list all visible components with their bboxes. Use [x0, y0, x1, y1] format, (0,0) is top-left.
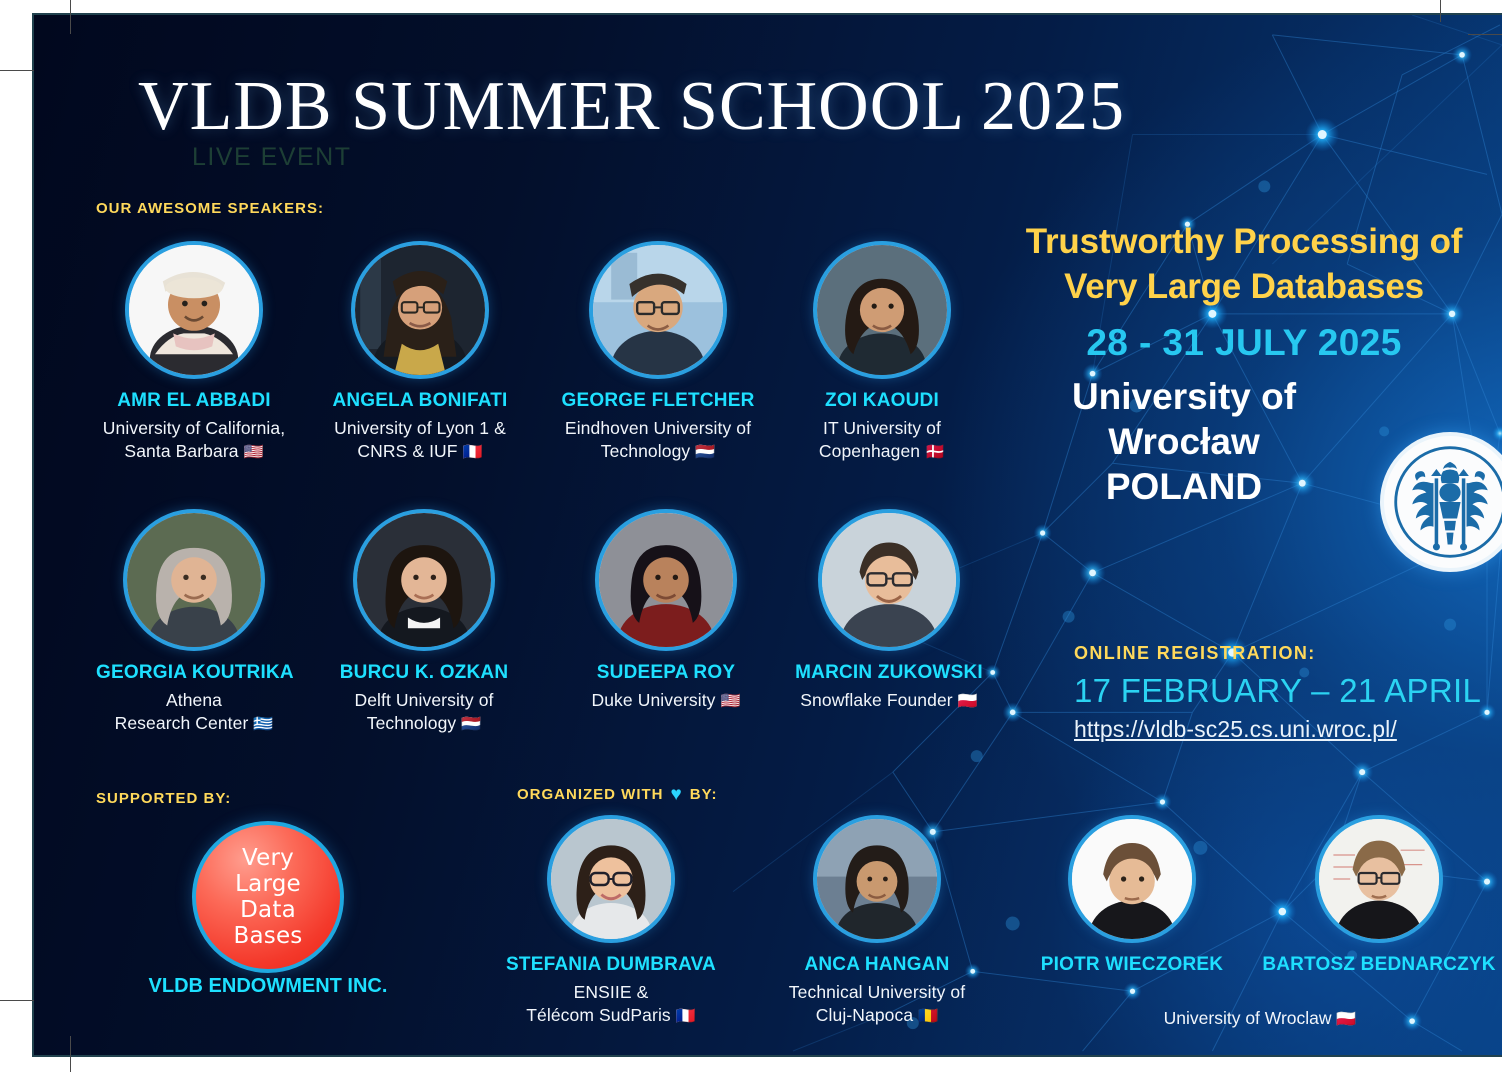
speaker-card: ZOI KAOUDI IT University ofCopenhagen 🇩🇰 [796, 241, 968, 464]
poster-canvas: VLDB SUMMER SCHOOL 2025 LIVE EVENT OUR A… [32, 13, 1502, 1057]
headline-line-2: Very Large Databases [986, 265, 1502, 310]
crop-mark-bottom-left-vertical [70, 1036, 71, 1072]
registration-label: ONLINE REGISTRATION: [1074, 643, 1481, 664]
vldb-logo-line-1: Very [242, 845, 294, 871]
registration-block: ONLINE REGISTRATION: 17 FEBRUARY – 21 AP… [1074, 643, 1481, 743]
speaker-name: GEORGE FLETCHER [552, 390, 764, 413]
crop-mark-top-right-vertical [1440, 0, 1441, 22]
flag-icon: 🇫🇷 [676, 1008, 696, 1025]
avatar [351, 241, 489, 379]
organizer-card: PIOTR WIECZOREK [1014, 815, 1250, 977]
headline-line-1: Trustworthy Processing of [986, 220, 1502, 265]
speaker-affiliation: Delft University ofTechnology 🇳🇱 [326, 689, 522, 736]
flag-icon: 🇺🇸 [244, 444, 264, 461]
organizer-card: STEFANIA DUMBRAVA ENSIIE &Télécom SudPar… [486, 815, 736, 1028]
location-line-1: University of [986, 374, 1382, 419]
supported-by-label: SUPPORTED BY: [96, 790, 231, 807]
vldb-endowment-logo: Very Large Data Bases [192, 821, 344, 973]
affiliation-text: Technical University ofCluj-Napoca [789, 982, 965, 1026]
speaker-affiliation: Snowflake Founder 🇵🇱 [778, 689, 1000, 713]
vldb-logo-line-2: Large [235, 871, 301, 897]
speaker-affiliation: AthenaResearch Center 🇬🇷 [96, 689, 292, 736]
organizer-card: ANCA HANGAN Technical University ofCluj-… [752, 815, 1002, 1028]
avatar [353, 509, 495, 651]
speaker-name: ANGELA BONIFATI [322, 390, 518, 413]
organized-label-after: BY: [690, 786, 718, 803]
affiliation-text: Eindhoven University ofTechnology [565, 418, 751, 462]
flag-icon: 🇳🇱 [695, 444, 715, 461]
avatar [1315, 815, 1443, 943]
vldb-logo-line-4: Bases [234, 923, 303, 949]
flag-icon: 🇵🇱 [1336, 1011, 1356, 1028]
registration-url-link[interactable]: https://vldb-sc25.cs.uni.wroc.pl/ [1074, 716, 1397, 743]
speaker-card: ANGELA BONIFATI University of Lyon 1 &CN… [322, 241, 518, 464]
speaker-card: GEORGE FLETCHER Eindhoven University ofT… [552, 241, 764, 464]
avatar [123, 509, 265, 651]
organized-by-label: ORGANIZED WITH ♥ BY: [517, 785, 718, 804]
vldb-endowment-caption: VLDB ENDOWMENT INC. [34, 975, 502, 998]
flag-icon: 🇳🇱 [461, 716, 481, 733]
organizer-name: ANCA HANGAN [752, 954, 1002, 977]
flag-icon: 🇩🇰 [925, 444, 945, 461]
flag-icon: 🇵🇱 [958, 693, 978, 710]
speaker-name: ZOI KAOUDI [796, 390, 968, 413]
speaker-name: MARCIN ZUKOWSKI [778, 662, 1000, 685]
vldb-logo-line-3: Data [240, 897, 296, 923]
speaker-card: BURCU K. OZKAN Delft University ofTechno… [326, 509, 522, 736]
event-headline: Trustworthy Processing of Very Large Dat… [986, 220, 1502, 310]
avatar [589, 241, 727, 379]
location-line-3: POLAND [986, 464, 1382, 509]
avatar [813, 815, 941, 943]
flag-icon: 🇺🇸 [720, 693, 740, 710]
crop-mark-top-left-vertical [70, 0, 71, 34]
crop-mark-top-right-horizontal [1468, 34, 1502, 35]
avatar [818, 509, 960, 651]
affiliation-text: IT University ofCopenhagen [819, 418, 941, 462]
flag-icon: 🇬🇷 [253, 716, 273, 733]
flag-icon: 🇫🇷 [463, 444, 483, 461]
avatar [1068, 815, 1196, 943]
affiliation-text: AthenaResearch Center [115, 690, 254, 734]
flag-icon: 🇷🇴 [918, 1008, 938, 1025]
live-event-badge: LIVE EVENT [192, 143, 352, 172]
event-dates: 28 - 31 JULY 2025 [986, 322, 1502, 364]
speakers-section-label: OUR AWESOME SPEAKERS: [96, 200, 324, 217]
speaker-card: GEORGIA KOUTRIKA AthenaResearch Center 🇬… [96, 509, 292, 736]
avatar [813, 241, 951, 379]
speaker-affiliation: Duke University 🇺🇸 [562, 689, 770, 713]
event-info-panel: Trustworthy Processing of Very Large Dat… [986, 220, 1502, 509]
organizers-shared-affiliation: University of Wroclaw 🇵🇱 [1074, 1008, 1446, 1029]
organizer-name: PIOTR WIECZOREK [1014, 954, 1250, 977]
speaker-name: GEORGIA KOUTRIKA [96, 662, 292, 685]
organizer-name: STEFANIA DUMBRAVA [486, 954, 736, 977]
university-of-wroclaw-crest-icon [1380, 432, 1502, 572]
crop-mark-bottom-left-horizontal [0, 1000, 34, 1001]
speaker-affiliation: Eindhoven University ofTechnology 🇳🇱 [552, 417, 764, 464]
organized-label-before: ORGANIZED WITH [517, 786, 664, 803]
speaker-name: AMR EL ABBADI [96, 390, 292, 413]
speaker-card: SUDEEPA ROY Duke University 🇺🇸 [562, 509, 770, 712]
speaker-card: AMR EL ABBADI University of California,S… [96, 241, 292, 464]
speaker-name: BURCU K. OZKAN [326, 662, 522, 685]
affiliation-text: ENSIIE &Télécom SudParis [526, 982, 676, 1026]
location-line-2: Wrocław [986, 419, 1382, 464]
avatar [125, 241, 263, 379]
organizer-name: BARTOSZ BEDNARCZYK [1256, 954, 1502, 977]
speaker-affiliation: IT University ofCopenhagen 🇩🇰 [796, 417, 968, 464]
avatar [547, 815, 675, 943]
avatar [595, 509, 737, 651]
organizer-affiliation: ENSIIE &Télécom SudParis 🇫🇷 [486, 981, 736, 1028]
speaker-affiliation: University of California,Santa Barbara 🇺… [96, 417, 292, 464]
crop-mark-top-left-horizontal [0, 70, 34, 71]
speaker-card: MARCIN ZUKOWSKI Snowflake Founder 🇵🇱 [778, 509, 1000, 712]
speaker-affiliation: University of Lyon 1 &CNRS & IUF 🇫🇷 [322, 417, 518, 464]
organizer-affiliation: Technical University ofCluj-Napoca 🇷🇴 [752, 981, 1002, 1028]
affiliation-text: Snowflake Founder [800, 690, 957, 710]
affiliation-text: University of Wroclaw [1164, 1008, 1337, 1028]
registration-window: 17 FEBRUARY – 21 APRIL [1074, 672, 1481, 710]
affiliation-text: Duke University [591, 690, 720, 710]
page-title: VLDB SUMMER SCHOOL 2025 [34, 67, 1229, 147]
organizer-card: BARTOSZ BEDNARCZYK [1256, 815, 1502, 977]
speaker-name: SUDEEPA ROY [562, 662, 770, 685]
heart-icon: ♥ [671, 785, 683, 804]
